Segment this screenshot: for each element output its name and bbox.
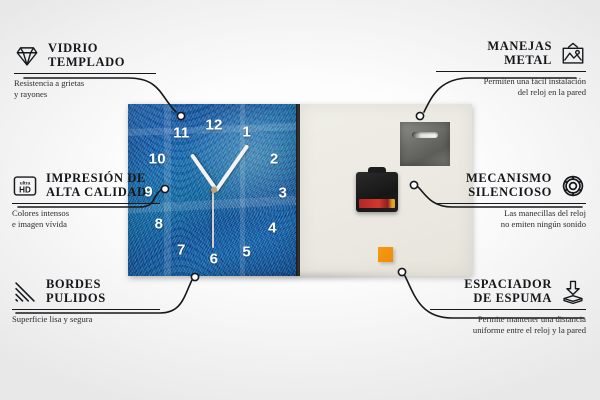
mechanism-tab [368,167,386,173]
clock-numeral-7: 7 [177,242,186,259]
foam-spacer-arrow-icon [560,279,586,305]
callout-description: Resistencia a grietas y rayones [14,78,164,100]
polished-edges-icon [12,279,38,305]
artwork-band [164,104,171,276]
callout-title: ESPACIADOR DE ESPUMA [464,278,552,305]
callout-rule [12,309,160,310]
callout-header: BORDES PULIDOS [12,278,160,305]
callout-rule [430,309,586,310]
callout-vidrio-templado[interactable]: VIDRIO TEMPLADO Resistencia a grietas y … [14,42,164,100]
callout-title: VIDRIO TEMPLADO [48,42,125,69]
metal-hanger-plate [400,122,450,166]
callout-description: Permiten una fácil instalación del reloj… [436,76,586,98]
callout-description: Superficie lisa y segura [12,314,160,325]
infographic-canvas: 12 1 2 3 4 5 6 7 8 9 10 11 [0,0,600,400]
battery [359,199,395,208]
callout-rule [436,71,586,72]
clock-numeral-12: 12 [205,116,222,133]
clock-numeral-6: 6 [210,250,219,267]
callout-header: ultra HD IMPRESIÓN DE ALTA CALIDAD [12,172,160,199]
clock-numeral-10: 10 [149,151,166,168]
callout-impresion-alta-calidad[interactable]: ultra HD IMPRESIÓN DE ALTA CALIDAD Color… [12,172,160,230]
clock-hands-pivot [211,187,217,193]
callout-rule [12,203,160,204]
clock-second-hand [213,190,215,248]
callout-description: Las manecillas del reloj no emiten ningú… [436,208,586,230]
callout-manejas-metal[interactable]: MANEJAS METAL Permiten una fácil instala… [436,40,586,98]
hanging-frame-icon [560,41,586,67]
product-shadow [130,274,476,288]
callout-rule [14,73,156,74]
callout-header: MANEJAS METAL [436,40,586,67]
clock-numeral-4: 4 [268,219,277,236]
svg-text:HD: HD [19,185,31,194]
clock-numeral-11: 11 [173,125,189,142]
callout-title: MECANISMO SILENCIOSO [466,172,552,199]
foam-spacer-pad [378,247,393,262]
product-photo: 12 1 2 3 4 5 6 7 8 9 10 11 [128,104,472,276]
clock-numeral-5: 5 [242,243,251,260]
gear-icon [560,173,586,199]
callout-bordes-pulidos[interactable]: BORDES PULIDOS Superficie lisa y segura [12,278,160,325]
clock-numeral-2: 2 [270,151,279,168]
callout-mecanismo-silencioso[interactable]: MECANISMO SILENCIOSO Las manecillas del … [436,172,586,230]
callout-description: Permite mantener una distancia uniforme … [430,314,586,336]
callout-title: IMPRESIÓN DE ALTA CALIDAD [46,172,147,199]
quartz-mechanism [356,172,398,212]
ultra-hd-icon: ultra HD [12,173,38,199]
callout-espaciador-de-espuma[interactable]: ESPACIADOR DE ESPUMA Permite mantener un… [430,278,586,336]
hanger-keyhole-slot [412,132,438,138]
callout-header: ESPACIADOR DE ESPUMA [430,278,586,305]
clock-numeral-3: 3 [278,185,287,202]
clock-numeral-1: 1 [242,123,251,140]
callout-title: MANEJAS METAL [487,40,552,67]
callout-description: Colores intensos e imagen vívida [12,208,160,230]
callout-rule [436,203,586,204]
callout-title: BORDES PULIDOS [46,278,106,305]
callout-header: MECANISMO SILENCIOSO [436,172,586,199]
diamond-icon [14,43,40,69]
callout-header: VIDRIO TEMPLADO [14,42,164,69]
